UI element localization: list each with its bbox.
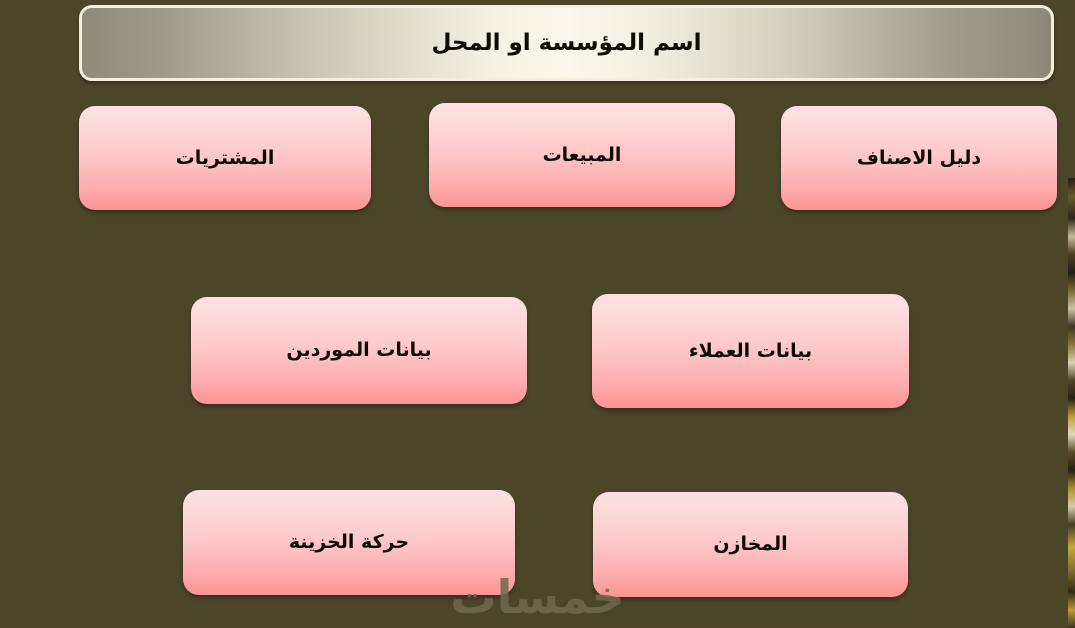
menu-button-sales[interactable]: المبيعات [429,103,735,207]
menu-button-items-directory[interactable]: دليل الاصناف [781,106,1057,210]
menu-button-label: دليل الاصناف [857,147,981,170]
menu-button-label: المخازن [713,533,787,556]
menu-button-purchases[interactable]: المشتريات [79,106,371,210]
right-edge-image-strip [1068,178,1075,628]
watermark: خمسات [0,570,1075,624]
header-title-bar: اسم المؤسسة او المحل [79,5,1054,81]
menu-button-warehouses[interactable]: المخازن [593,492,908,597]
menu-button-label: حركة الخزينة [289,531,409,554]
menu-button-suppliers-data[interactable]: بيانات الموردين [191,297,527,404]
menu-button-label: بيانات العملاء [689,340,812,363]
menu-button-label: بيانات الموردين [286,339,431,362]
menu-button-customers-data[interactable]: بيانات العملاء [592,294,909,408]
menu-button-label: المبيعات [543,144,622,167]
application-window: اسم المؤسسة او المحل المشتريات المبيعات … [0,0,1075,628]
menu-button-label: المشتريات [176,147,275,170]
page-title: اسم المؤسسة او المحل [431,30,701,56]
menu-button-treasury-movement[interactable]: حركة الخزينة [183,490,515,595]
